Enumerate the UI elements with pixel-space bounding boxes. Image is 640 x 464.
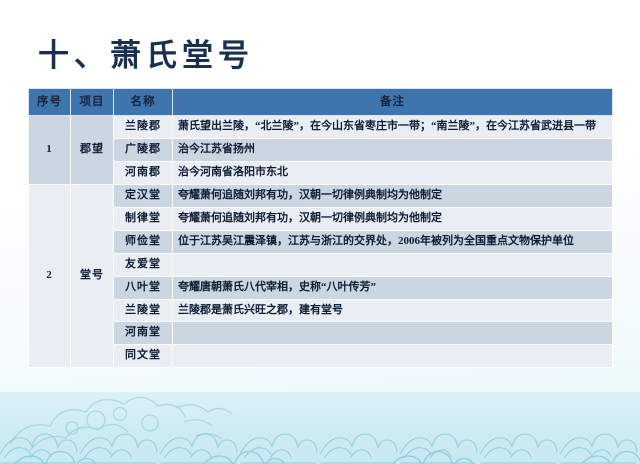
cell-hall-name: 同文堂 (114, 345, 173, 368)
column-header-item: 项目 (71, 89, 114, 116)
table-header: 序号 项目 名称 备注 (29, 89, 613, 116)
cell-hall-name: 兰陵郡 (114, 116, 173, 139)
cell-remark: 治今河南省洛阳市东北 (173, 161, 613, 184)
page-title: 十、萧氏堂号 (38, 30, 254, 75)
cell-remark: 兰陵郡是萧氏兴旺之郡，建有堂号 (173, 299, 613, 322)
cell-remark: 治今江苏省扬州 (173, 138, 613, 161)
genealogy-table: 序号 项目 名称 备注 1郡望兰陵郡萧氏望出兰陵，“北兰陵”，在今山东省枣庄市一… (28, 88, 613, 368)
cell-hall-name: 兰陵堂 (114, 299, 173, 322)
cell-remark (173, 322, 613, 345)
column-header-note: 备注 (173, 89, 613, 116)
table-row: 兰陵堂兰陵郡是萧氏兴旺之郡，建有堂号 (29, 299, 613, 322)
table-row: 同文堂 (29, 345, 613, 368)
cell-category: 郡望 (71, 116, 114, 185)
table-body: 1郡望兰陵郡萧氏望出兰陵，“北兰陵”，在今山东省枣庄市一带；“南兰陵”，在今江苏… (29, 116, 613, 368)
cell-hall-name: 定汉堂 (114, 184, 173, 207)
cell-hall-name: 八叶堂 (114, 276, 173, 299)
cell-remark: 夸耀唐朝萧氏八代宰相，史称“八叶传芳” (173, 276, 613, 299)
cell-remark (173, 345, 613, 368)
table-row: 广陵郡治今江苏省扬州 (29, 138, 613, 161)
cell-hall-name: 河南堂 (114, 322, 173, 345)
slide-canvas: 十、萧氏堂号 序号 项目 名称 备注 1郡望兰陵郡萧氏望出兰陵，“北兰陵”，在今… (0, 0, 640, 464)
cell-remark (173, 253, 613, 276)
table-row: 友爱堂 (29, 253, 613, 276)
cell-sequence-number: 2 (29, 184, 71, 368)
cell-remark: 位于江苏吴江震泽镇，江苏与浙江的交界处，2006年被列为全国重点文物保护单位 (173, 230, 613, 253)
cell-remark: 夸耀萧何追随刘邦有功，汉朝一切律例典制均为他制定 (173, 207, 613, 230)
auspicious-cloud-icon (0, 392, 250, 464)
cell-sequence-number: 1 (29, 116, 71, 185)
cell-hall-name: 师俭堂 (114, 230, 173, 253)
table-header-row: 序号 项目 名称 备注 (29, 89, 613, 116)
table-row: 制律堂夸耀萧何追随刘邦有功，汉朝一切律例典制均为他制定 (29, 207, 613, 230)
genealogy-table-container: 序号 项目 名称 备注 1郡望兰陵郡萧氏望出兰陵，“北兰陵”，在今山东省枣庄市一… (28, 88, 612, 368)
table-row: 师俭堂位于江苏吴江震泽镇，江苏与浙江的交界处，2006年被列为全国重点文物保护单… (29, 230, 613, 253)
cell-hall-name: 制律堂 (114, 207, 173, 230)
table-row: 河南郡治今河南省洛阳市东北 (29, 161, 613, 184)
column-header-seq: 序号 (29, 89, 71, 116)
decorative-wave-band (0, 392, 640, 464)
cell-remark: 萧氏望出兰陵，“北兰陵”，在今山东省枣庄市一带；“南兰陵”，在今江苏省武进县一带 (173, 116, 613, 139)
table-row: 1郡望兰陵郡萧氏望出兰陵，“北兰陵”，在今山东省枣庄市一带；“南兰陵”，在今江苏… (29, 116, 613, 139)
cell-hall-name: 友爱堂 (114, 253, 173, 276)
table-row: 八叶堂夸耀唐朝萧氏八代宰相，史称“八叶传芳” (29, 276, 613, 299)
cell-hall-name: 广陵郡 (114, 138, 173, 161)
cell-category: 堂号 (71, 184, 114, 368)
table-row: 河南堂 (29, 322, 613, 345)
table-row: 2堂号定汉堂夸耀萧何追随刘邦有功，汉朝一切律例典制均为他制定 (29, 184, 613, 207)
column-header-name: 名称 (114, 89, 173, 116)
cell-hall-name: 河南郡 (114, 161, 173, 184)
cell-remark: 夸耀萧何追随刘邦有功，汉朝一切律例典制均为他制定 (173, 184, 613, 207)
